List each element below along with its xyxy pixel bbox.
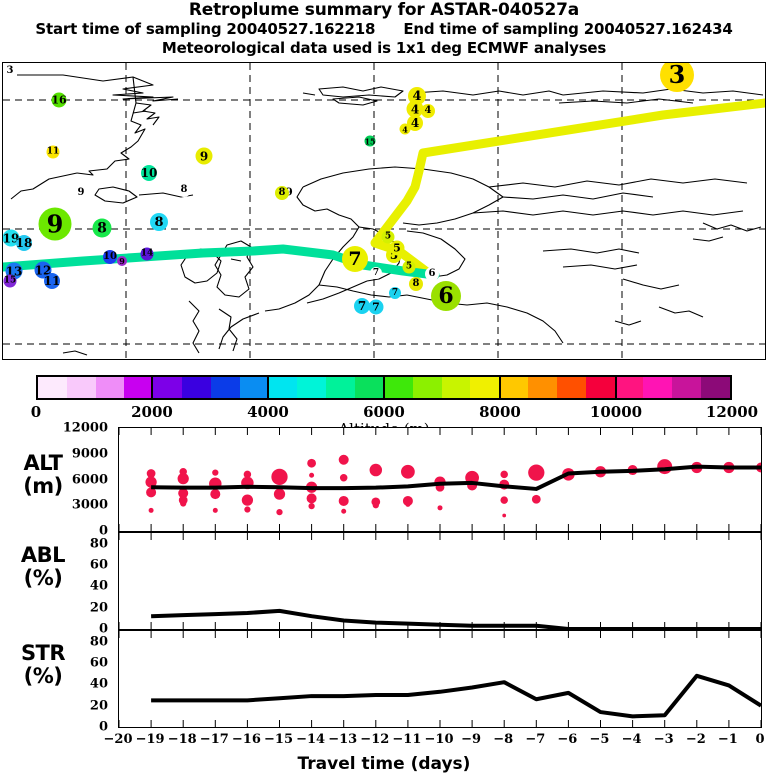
alt-scatter-point [405, 502, 410, 507]
title-block: Retroplume summary for ASTAR-040527a Sta… [0, 0, 768, 58]
xaxis-tick-label: −16 [232, 732, 261, 747]
map-marker-label: 4 [425, 106, 432, 116]
map-marker-label: 5 [393, 243, 401, 254]
alt-scatter-point [500, 496, 508, 504]
panel-abl-line [151, 611, 761, 629]
alt-scatter-point [340, 474, 348, 482]
map-marker[interactable]: 6 [425, 267, 439, 281]
yaxis-tick-label: 40 [20, 579, 108, 594]
alt-scatter-point [341, 509, 346, 514]
colorbar-tick-label: 0 [31, 403, 41, 421]
alt-scatter-point [274, 488, 285, 499]
alt-scatter-point [401, 465, 415, 479]
alt-scatter-point [339, 455, 349, 465]
alt-scatter-point [180, 500, 186, 506]
colorbar-cell [240, 377, 269, 398]
xaxis-tick-label: −19 [136, 732, 165, 747]
colorbar-cell [672, 377, 701, 398]
map-marker-label: 8 [181, 185, 188, 195]
map-marker-label: 5 [406, 263, 412, 272]
alt-scatter-point [149, 508, 154, 513]
colorbar-cell [38, 377, 67, 398]
end-time-label: End time of sampling 20040527.162434 [403, 20, 732, 38]
alt-scatter-point [657, 459, 672, 474]
map-marker-label: 10 [103, 252, 117, 262]
map-graticule [3, 63, 765, 359]
xaxis-tick-label: −20 [104, 732, 133, 747]
map-graphics [3, 63, 765, 359]
xaxis-tick-label: −12 [360, 732, 389, 747]
colorbar-separator [499, 375, 501, 400]
map-marker-label: 7 [392, 289, 398, 298]
yaxis-tick-label: 20 [20, 600, 108, 615]
alt-scatter-point [244, 506, 250, 512]
xaxis-tick-label: −2 [686, 732, 706, 747]
yaxis-tick-label: 60 [20, 558, 108, 573]
xaxis-tick-label: −14 [296, 732, 325, 747]
map-marker-label: 15 [4, 277, 17, 286]
map-marker[interactable]: 6 [431, 281, 461, 311]
map-marker-label: 3 [7, 66, 14, 76]
xaxis-tick-label: −1 [718, 732, 738, 747]
yaxis-tick-label: 9000 [20, 446, 108, 461]
page-title: Retroplume summary for ASTAR-040527a [0, 0, 768, 20]
map-marker-label: 16 [51, 95, 66, 106]
panel-alt-mean-line [151, 467, 761, 489]
map-marker[interactable]: 10 [141, 165, 157, 181]
retroplume-map[interactable]: 3316119109898988191810914131211154444415… [2, 62, 766, 360]
colorbar-cell [499, 377, 528, 398]
xaxis-tick-label: −9 [461, 732, 481, 747]
xaxis-tick-label: −6 [557, 732, 577, 747]
xaxis-tick-label: −17 [200, 732, 229, 747]
met-data-label: Meteorological data used is 1x1 deg ECMW… [0, 39, 768, 58]
colorbar-cell [470, 377, 499, 398]
map-marker-label: 6 [438, 285, 453, 307]
colorbar-cell [586, 377, 615, 398]
colorbar-cell [269, 377, 298, 398]
alt-scatter-point [212, 470, 218, 476]
map-marker[interactable]: 4 [400, 124, 411, 135]
alt-scatter-point [178, 473, 189, 484]
colorbar-cell [557, 377, 586, 398]
xaxis-tick-label: −10 [425, 732, 454, 747]
colorbar-cell [442, 377, 471, 398]
colorbar-tick-label: 2000 [131, 403, 173, 421]
map-marker[interactable]: 8 [177, 183, 191, 197]
xaxis-tick-label: −3 [654, 732, 674, 747]
yaxis-tick-label: 20 [20, 698, 108, 713]
map-marker-label: 7 [373, 269, 379, 278]
map-marker[interactable]: 8 [150, 213, 168, 231]
map-marker-label: 7 [348, 250, 361, 269]
map-marker[interactable]: 9 [117, 256, 127, 266]
colorbar-cell [211, 377, 240, 398]
map-marker-label: 18 [16, 237, 33, 249]
retroplume-summary-page: Retroplume summary for ASTAR-040527a Sta… [0, 0, 768, 768]
map-marker[interactable]: 7 [369, 300, 384, 315]
map-marker-label: 14 [141, 250, 154, 259]
alt-scatter-point [339, 496, 349, 506]
map-marker-label: 8 [97, 221, 107, 235]
map-marker[interactable]: 4 [421, 104, 435, 118]
colorbar-cell [643, 377, 672, 398]
panel-str-line [151, 676, 761, 717]
yaxis-tick-label: 12000 [20, 421, 108, 436]
timeseries-panels: ALT (m) 030006000900012000 ABL (%) 02040… [0, 424, 768, 768]
map-marker[interactable]: 5 [390, 241, 405, 256]
xaxis-title: Travel time (days) [0, 754, 768, 774]
yaxis-tick-label: 60 [20, 656, 108, 671]
panel-abl-graphics [119, 533, 761, 629]
colorbar-cell [297, 377, 326, 398]
alt-scatter-point [242, 494, 253, 505]
yaxis-tick-label: 0 [20, 720, 108, 735]
colorbar-separator [383, 375, 385, 400]
map-marker-label: 7 [372, 302, 380, 313]
map-marker-label: 5 [385, 233, 391, 242]
map-marker[interactable]: 9 [74, 186, 88, 200]
map-marker-label: 8 [279, 188, 286, 198]
colorbar-cell [615, 377, 644, 398]
altitude-colorbar: 020004000600080001000012000 Altitude (m) [0, 368, 768, 426]
map-marker-label: 4 [402, 125, 408, 133]
colorbar-separator [267, 375, 269, 400]
map-marker-label: 10 [141, 167, 158, 179]
map-marker[interactable]: 9 [196, 148, 213, 165]
colorbar-separator [615, 375, 617, 400]
colorbar-cell [67, 377, 96, 398]
xaxis-tick-label: 0 [755, 732, 764, 747]
yaxis-tick-label: 80 [20, 634, 108, 649]
colorbar-cell [413, 377, 442, 398]
panel-str-plotbox[interactable] [118, 630, 762, 728]
xaxis-tick-label: −11 [392, 732, 421, 747]
alt-scatter-point [307, 459, 316, 468]
xaxis-tick-label: −4 [622, 732, 642, 747]
alt-scatter-point [213, 508, 218, 513]
alt-scatter-point [307, 493, 317, 503]
map-marker[interactable]: 5 [382, 231, 395, 244]
colorbar-tick-label: 8000 [479, 403, 521, 421]
map-marker[interactable]: 8 [409, 277, 423, 291]
alt-scatter-point [276, 509, 282, 515]
map-marker[interactable]: 7 [370, 267, 382, 279]
colorbar-tick-label: 4000 [247, 403, 289, 421]
map-marker[interactable]: 11 [47, 146, 60, 159]
alt-scatter-point [532, 495, 541, 504]
map-marker[interactable]: 5 [403, 261, 416, 274]
panel-alt-plotbox[interactable] [118, 427, 762, 532]
colorbar-cell [701, 377, 730, 398]
map-marker-label: 11 [44, 275, 61, 287]
map-marker-label: 11 [47, 148, 60, 157]
alt-scatter-point [309, 473, 314, 478]
map-marker[interactable]: 10 [103, 250, 117, 264]
yaxis-tick-label: 40 [20, 677, 108, 692]
map-marker[interactable]: 3 [3, 64, 17, 78]
map-marker-label: 4 [411, 117, 419, 129]
map-marker[interactable]: 18 [16, 235, 32, 251]
panel-alt-graphics [119, 428, 761, 531]
map-marker[interactable]: 11 [44, 273, 60, 289]
colorbar-cell [326, 377, 355, 398]
map-marker-label: 9 [78, 188, 85, 198]
colorbar-cell [124, 377, 153, 398]
colorbar-cell [384, 377, 413, 398]
map-marker-label: 15 [364, 137, 375, 145]
colorbar-cell [528, 377, 557, 398]
xaxis-tick-label: −7 [525, 732, 545, 747]
map-marker-label: 8 [413, 279, 420, 289]
alt-scatter-point [500, 471, 508, 479]
alt-scatter-point [370, 464, 383, 477]
map-marker[interactable]: 7 [389, 287, 401, 299]
xaxis-tick-label: −15 [264, 732, 293, 747]
map-marker[interactable]: 16 [52, 93, 67, 108]
yaxis-tick-label: 3000 [20, 498, 108, 513]
alt-scatter-point [308, 503, 314, 509]
map-marker[interactable]: 15 [365, 136, 376, 147]
xaxis-tick-label: −18 [168, 732, 197, 747]
map-marker-label: 9 [200, 150, 208, 162]
yaxis-tick-label: 80 [20, 536, 108, 551]
map-marker[interactable]: 14 [141, 248, 154, 261]
start-time-label: Start time of sampling 20040527.162218 [35, 20, 375, 38]
sampling-time-line: Start time of sampling 20040527.162218 E… [0, 20, 768, 39]
map-marker[interactable]: 8 [275, 186, 289, 200]
map-marker[interactable]: 8 [93, 219, 112, 238]
alt-scatter-point [210, 489, 220, 499]
map-marker[interactable]: 7 [342, 246, 368, 272]
alt-scatter-point [502, 514, 506, 518]
map-marker-label: 4 [411, 103, 419, 115]
panel-abl-plotbox[interactable] [118, 532, 762, 630]
map-marker-label: 8 [154, 216, 163, 229]
map-marker-label: 6 [429, 269, 436, 279]
map-marker-label: 9 [119, 257, 125, 265]
colorbar-cell [96, 377, 125, 398]
colorbar-cell [153, 377, 182, 398]
map-marker[interactable]: 9 [39, 208, 72, 241]
map-marker-label: 3 [669, 63, 686, 87]
alt-scatter-point [438, 505, 443, 510]
alt-scatter-point [271, 469, 287, 485]
xaxis-tick-label: −5 [590, 732, 610, 747]
colorbar-tick-label: 12000 [706, 403, 758, 421]
alt-scatter-point [528, 465, 544, 481]
yaxis-tick-label: 6000 [20, 472, 108, 487]
colorbar-cell [355, 377, 384, 398]
xaxis-tick-label: −13 [328, 732, 357, 747]
map-marker[interactable]: 15 [4, 275, 17, 288]
xaxis-tick-label: −8 [493, 732, 513, 747]
alt-scatter-point [373, 502, 379, 508]
colorbar-separator [151, 375, 153, 400]
panel-str-graphics [119, 631, 761, 727]
colorbar-tick-label: 6000 [363, 403, 405, 421]
map-marker-label: 7 [358, 300, 366, 312]
colorbar-cell [182, 377, 211, 398]
colorbar-tick-label: 10000 [590, 403, 642, 421]
map-marker-label: 9 [47, 212, 64, 236]
